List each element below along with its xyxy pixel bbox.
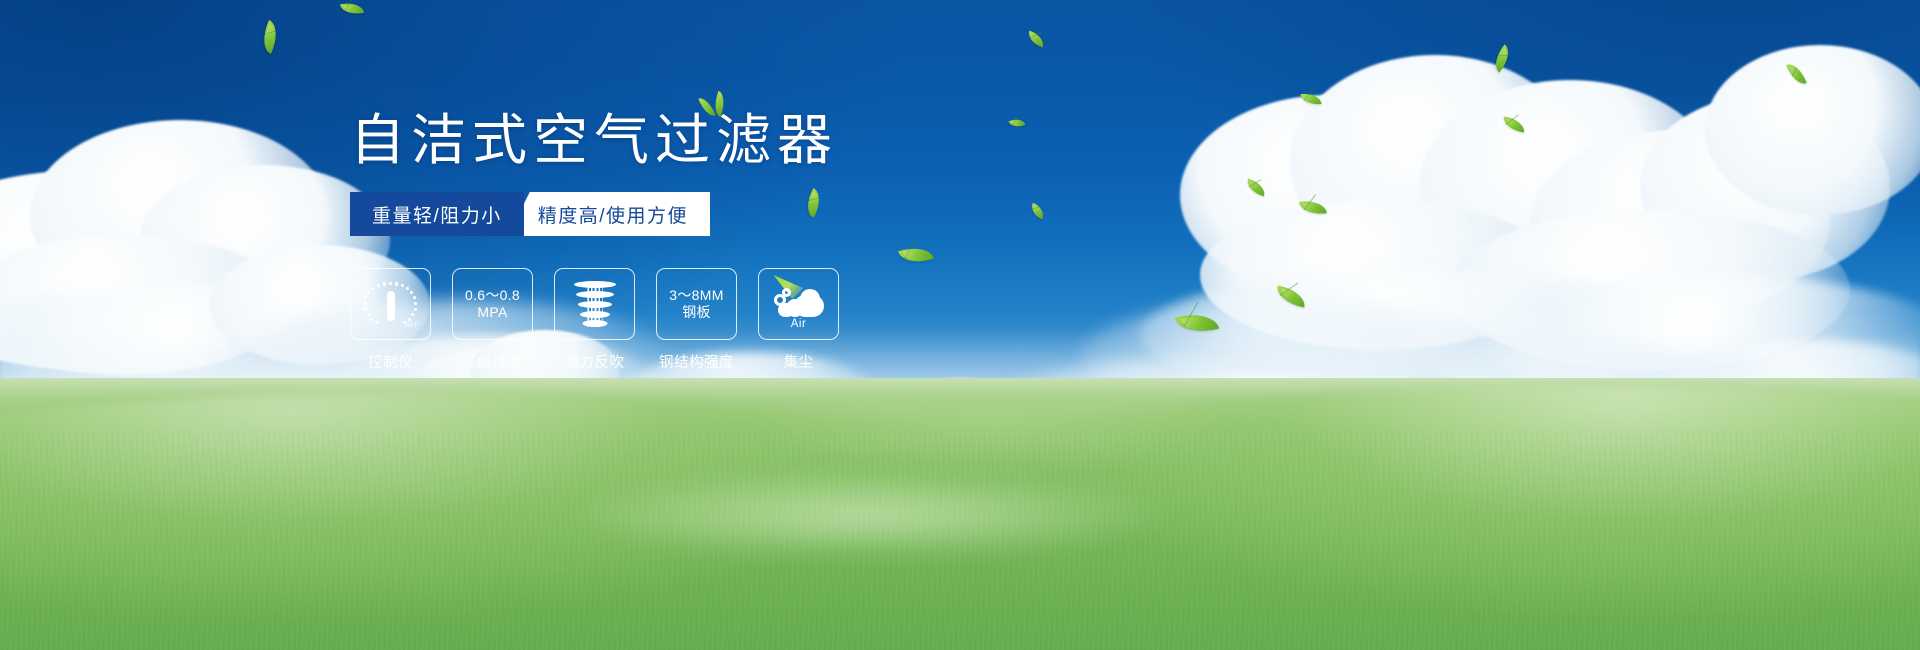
feature-box-control: NO OFF — [350, 268, 431, 340]
feature-box-line1-filtration: 0.6〜0.8 — [465, 287, 520, 305]
feature-list: NO OFF 控制仪 0.6〜0.8 MPA 二级过滤 — [350, 268, 839, 372]
filter-stack-icon — [572, 279, 618, 329]
banner-content: 自洁式空气过滤器 重量轻/阻力小 精度高/使用方便 — [0, 0, 1920, 650]
feature-box-blowback — [554, 268, 635, 340]
tagline-primary: 重量轻/阻力小 — [350, 192, 524, 236]
gauge-icon: NO OFF — [364, 280, 418, 328]
gauge-on-label: NO — [362, 306, 372, 312]
feature-box-steel: 3〜8MM 钢板 — [656, 268, 737, 340]
feature-label-blowback: 强力反吹 — [546, 351, 643, 372]
cloud-air-label: Air — [772, 318, 826, 330]
gauge-off-label: OFF — [406, 323, 419, 329]
feature-item-dust[interactable]: Air 集尘 — [758, 268, 839, 372]
feature-box-line2-steel: 钢板 — [669, 304, 723, 322]
hero-banner: 自洁式空气过滤器 重量轻/阻力小 精度高/使用方便 — [0, 0, 1920, 650]
feature-label-dust: 集尘 — [750, 351, 847, 372]
page-title: 自洁式空气过滤器 — [350, 110, 870, 172]
cloud-air-icon: Air — [772, 281, 826, 327]
feature-label-steel: 钢结构强度 — [648, 351, 745, 372]
feature-item-filtration[interactable]: 0.6〜0.8 MPA 二级过滤 — [452, 268, 533, 372]
feature-box-filtration: 0.6〜0.8 MPA — [452, 268, 533, 340]
feature-box-line2-filtration: MPA — [465, 304, 520, 322]
tagline-bar: 重量轻/阻力小 精度高/使用方便 — [350, 192, 710, 236]
feature-item-steel[interactable]: 3〜8MM 钢板 钢结构强度 — [656, 268, 737, 372]
feature-item-blowback[interactable]: 强力反吹 — [554, 268, 635, 372]
feature-label-control: 控制仪 — [342, 351, 439, 372]
feature-label-filtration: 二级过滤 — [444, 351, 541, 372]
feature-box-line1-steel: 3〜8MM — [669, 287, 723, 305]
tagline-secondary: 精度高/使用方便 — [508, 192, 710, 236]
title-leaf-icon — [690, 88, 750, 122]
title-block: 自洁式空气过滤器 — [350, 110, 870, 172]
feature-box-dust: Air — [758, 268, 839, 340]
feature-item-control[interactable]: NO OFF 控制仪 — [350, 268, 431, 372]
